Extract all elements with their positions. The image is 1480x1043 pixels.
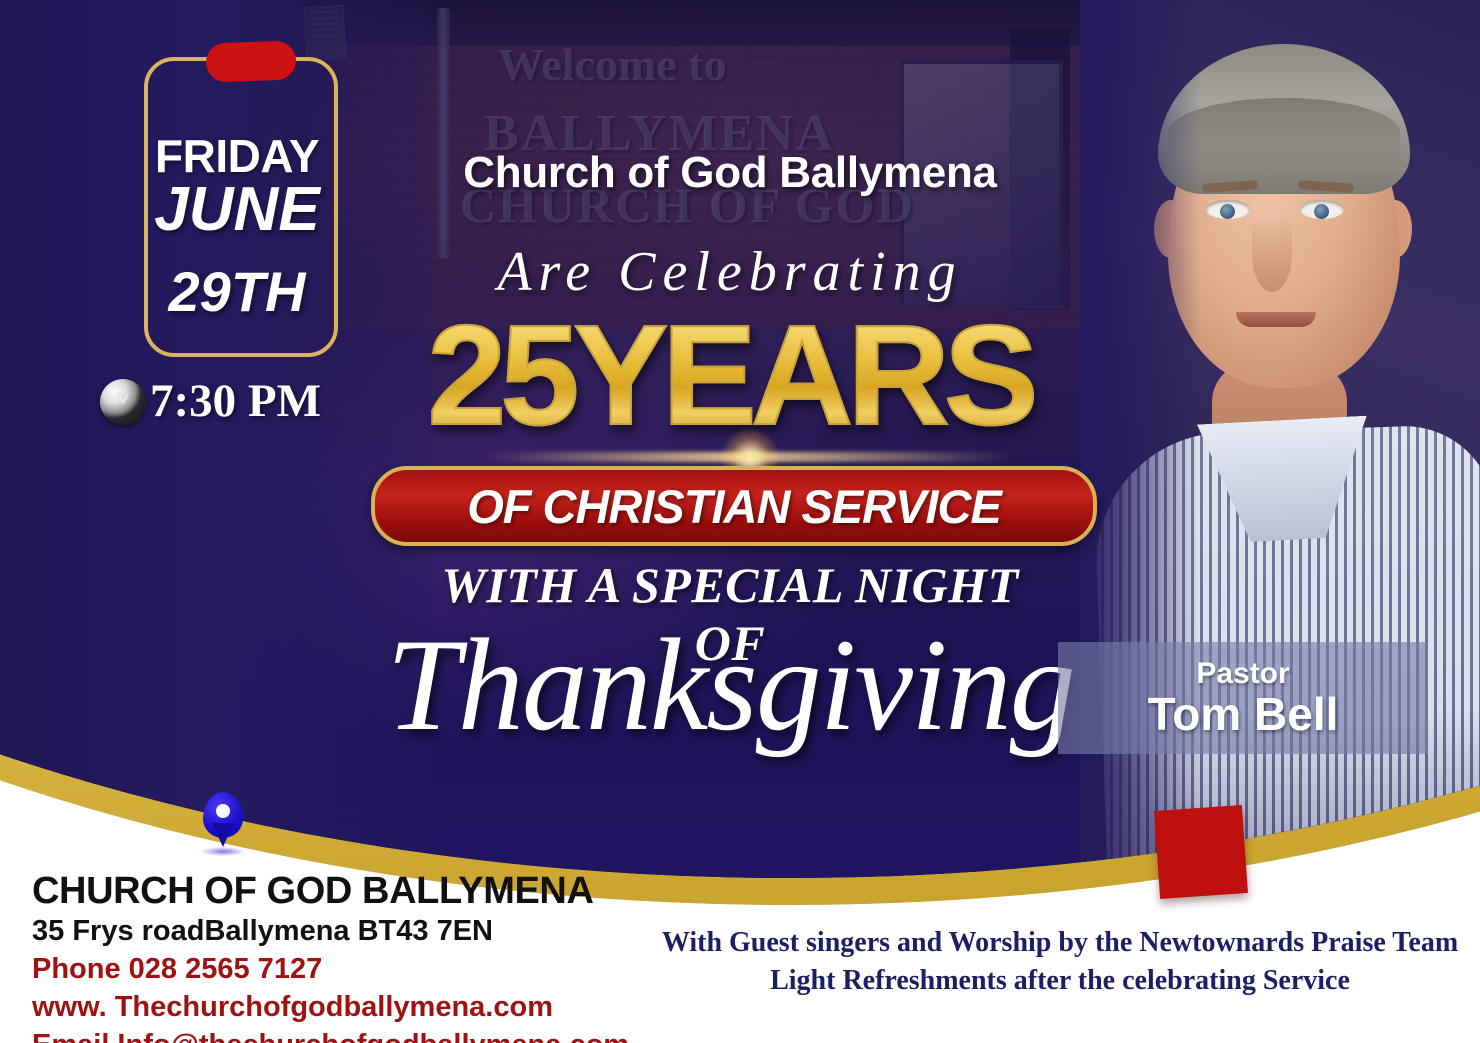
service-banner-label: OF CHRISTIAN SERVICE <box>467 479 1001 534</box>
contact-website[interactable]: www. Thechurchofgodballymena.com <box>32 988 672 1026</box>
footnote-line-2: Light Refreshments after the celebrating… <box>660 962 1460 1000</box>
celebrating-script: Are Celebrating <box>400 240 1060 304</box>
clock-icon <box>100 379 146 425</box>
contact-address: 35 Frys roadBallymena BT43 7EN <box>32 913 672 950</box>
date-month: JUNE <box>144 179 330 241</box>
map-pin-icon <box>199 792 247 854</box>
pastor-title: Pastor <box>1196 658 1289 690</box>
contact-block: CHURCH OF GOD BALLYMENA 35 Frys roadBall… <box>32 870 672 1043</box>
nose <box>1252 216 1292 292</box>
event-time: 7:30 PM <box>100 378 321 425</box>
pastor-name: Tom Bell <box>1148 690 1339 738</box>
eye-left <box>1206 200 1250 219</box>
mouth <box>1236 312 1316 327</box>
footnote-block: With Guest singers and Worship by the Ne… <box>660 924 1460 999</box>
contact-email[interactable]: Email Info@thechurchofgodballymena.com <box>32 1026 672 1043</box>
church-name-title: Church of God Ballymena <box>400 148 1060 198</box>
time-value: 7:30 PM <box>150 378 321 425</box>
service-banner: OF CHRISTIAN SERVICE <box>371 466 1097 546</box>
footnote-line-1: With Guest singers and Worship by the Ne… <box>660 924 1460 962</box>
contact-phone[interactable]: Phone 028 2565 7127 <box>32 950 672 988</box>
red-square-decor-icon <box>1154 805 1248 899</box>
contact-organisation: CHURCH OF GOD BALLYMENA <box>32 870 672 913</box>
pastor-name-plate: Pastor Tom Bell <box>1058 642 1428 754</box>
eye-right <box>1300 200 1344 219</box>
thanksgiving-script: Thanksgiving <box>380 612 1080 757</box>
date-day: 29TH <box>144 264 330 320</box>
years-headline: 25YEARS <box>368 305 1092 447</box>
date-weekday: FRIDAY <box>144 133 330 179</box>
event-poster: Welcome to BALLYMENA CHURCH OF GOD <box>0 0 1480 1043</box>
date-card-red-tab-icon <box>205 40 296 82</box>
